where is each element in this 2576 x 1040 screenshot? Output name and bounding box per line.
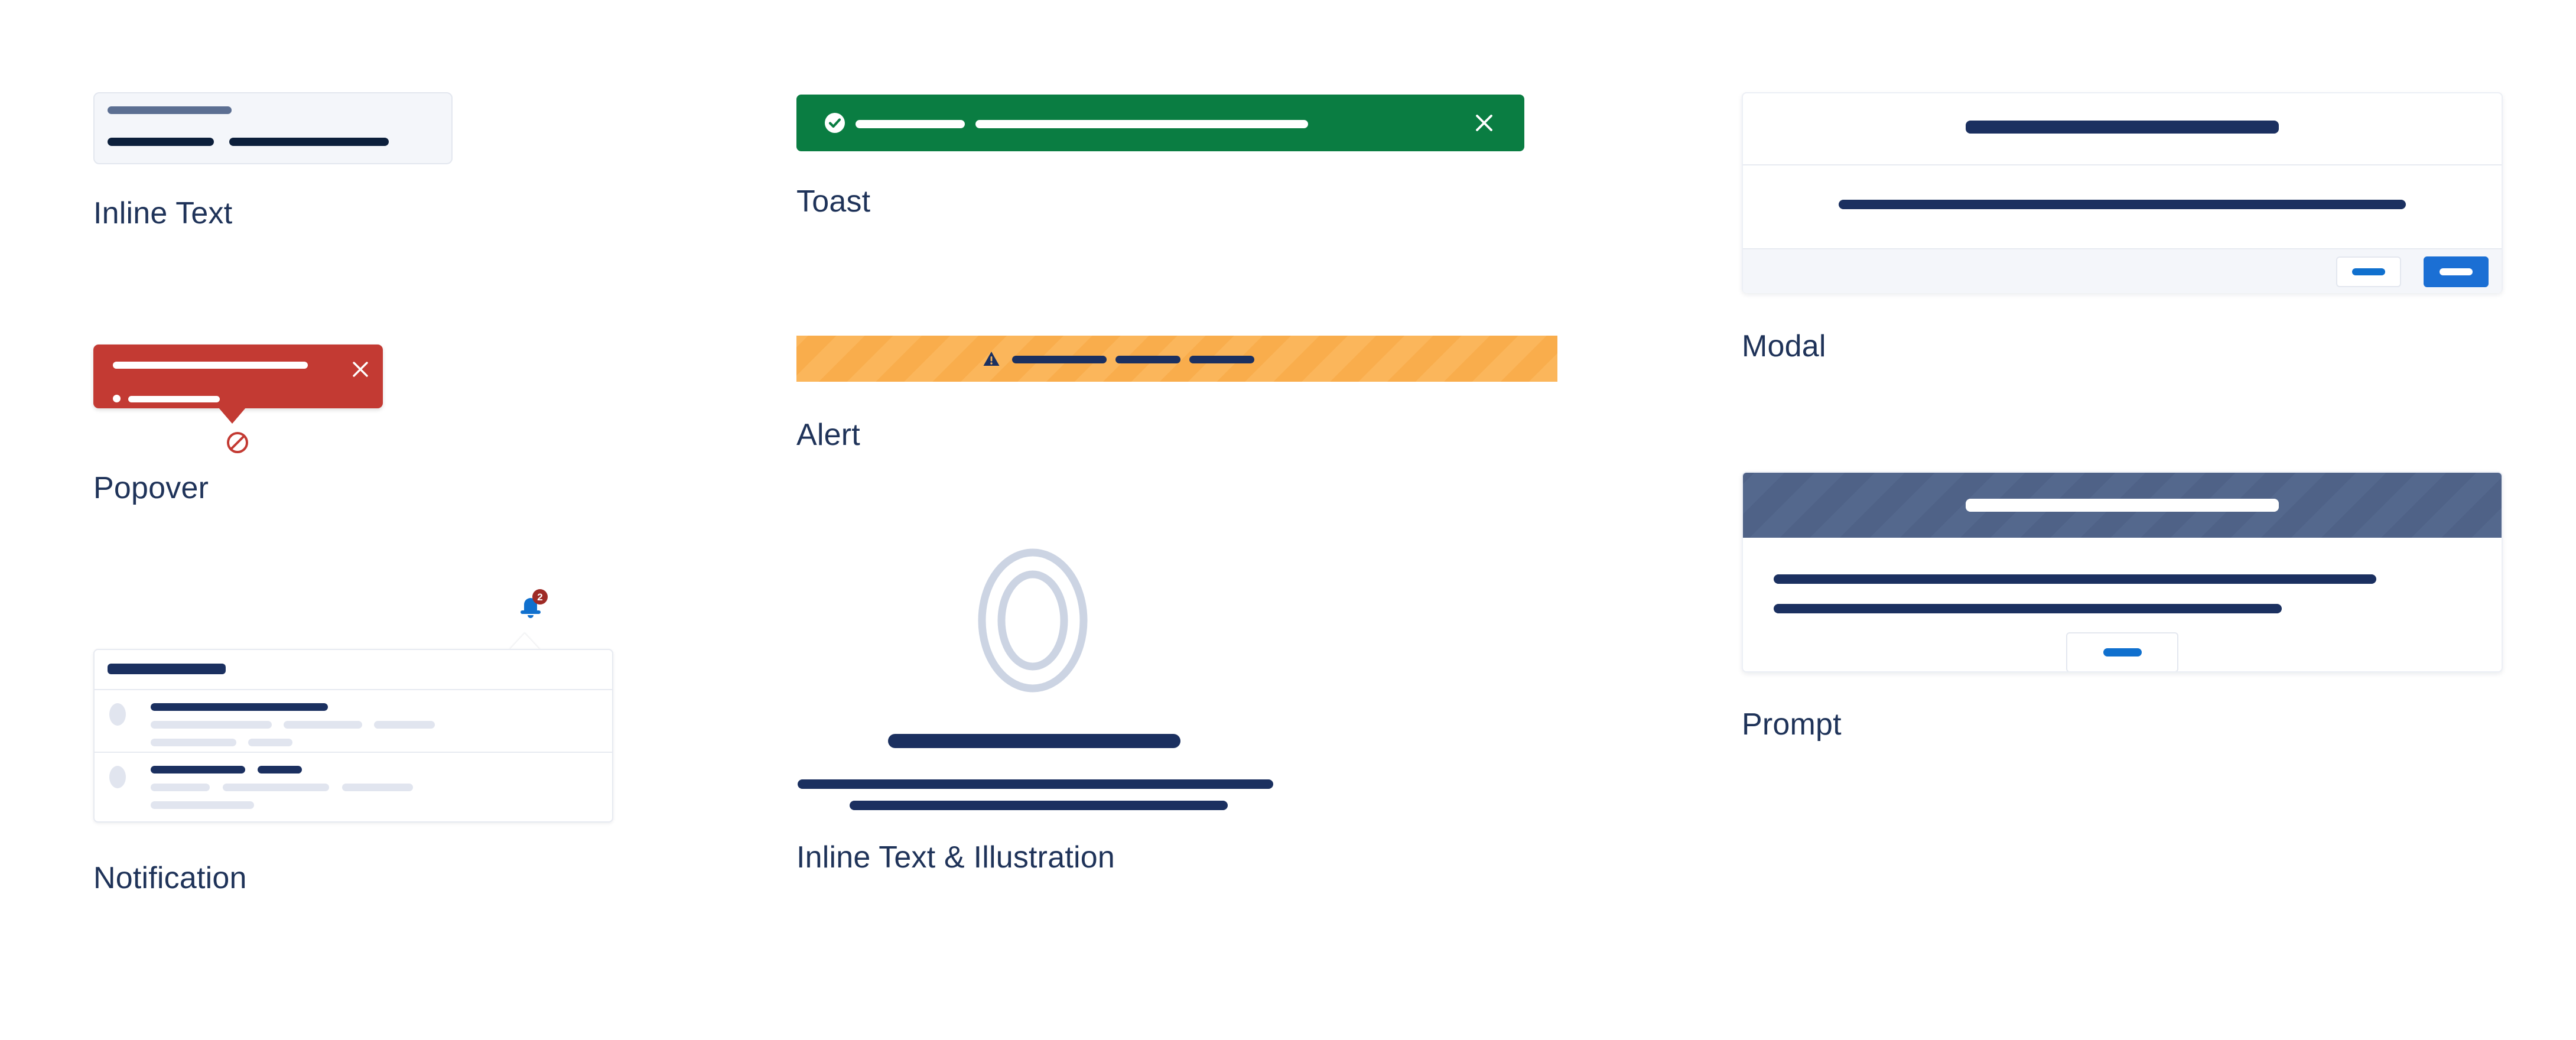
button-label-bar [2352,268,2385,275]
modal-body [1743,165,2502,249]
popover-title-bar [113,362,308,369]
popover-card [93,344,383,408]
illustration-bar-3 [850,801,1228,810]
prompt-dialog [1742,472,2503,672]
notification-badge-count: 2 [537,591,542,603]
prompt-confirm-button[interactable] [2066,632,2178,672]
body-bar [374,721,435,729]
notification-item-content [151,765,600,818]
notification-item-content [151,702,600,755]
notification-panel-tail [509,633,540,650]
notification-list-item[interactable] [95,753,612,814]
body-bar [151,801,254,809]
modal-cancel-button[interactable] [2336,256,2401,287]
popover-tail [219,408,246,424]
prompt-body-bar-1 [1774,574,2376,584]
body-bar [151,721,272,729]
alert-message-bar-3 [1189,356,1254,363]
caption-alert: Alert [796,420,860,450]
title-bar [151,703,328,711]
prompt-body-bar-2 [1774,604,2282,613]
body-bar [151,739,236,746]
toast-message-bar-2 [975,120,1308,128]
caption-popover: Popover [93,473,209,503]
avatar [109,703,126,726]
caption-prompt: Prompt [1742,709,1842,740]
placeholder-bar-title [108,106,232,114]
warning-triangle-icon [983,350,1000,368]
prompt-header [1743,473,2502,538]
modal-confirm-button[interactable] [2424,256,2489,287]
modal-body-bar [1839,200,2406,209]
alert-banner [796,336,1557,382]
body-bar [151,784,210,791]
inline-text-card [93,92,453,164]
alert-message-bar-1 [1012,356,1107,363]
notification-item-body-line [151,800,600,811]
concentric-rings-icon [959,547,1107,694]
title-bar [151,766,245,773]
body-bar [223,784,329,791]
modal-dialog [1742,92,2503,293]
illustration-bar-1 [888,734,1180,748]
button-label-bar [2440,268,2473,275]
body-bar [342,784,413,791]
no-entry-icon [226,431,249,454]
notification-item-body-line [151,720,600,730]
inline-text-illustration [796,535,1269,812]
notification-list-item[interactable] [95,690,612,753]
close-icon[interactable] [1472,111,1496,135]
popover-bullet-dot [113,395,121,402]
illustration-bar-2 [798,779,1273,789]
notification-panel-header [95,650,612,690]
notification-item-title [151,765,600,775]
modal-footer [1743,249,2502,293]
body-bar [284,721,362,729]
caption-toast: Toast [796,186,870,217]
avatar [109,766,126,788]
notification-header-bar [108,664,226,674]
bell-icon[interactable]: 2 [512,588,549,625]
alert-message-bar-2 [1115,356,1180,363]
body-bar [248,739,292,746]
close-icon[interactable] [350,359,371,380]
caption-inline-text-illustration: Inline Text & Illustration [796,842,1115,873]
toast-message-bar-1 [856,120,965,128]
modal-header [1743,93,2502,165]
caption-notification: Notification [93,863,247,893]
check-circle-icon [824,112,845,134]
popover-bullet-text-bar [128,396,220,402]
prompt-body [1743,538,2502,671]
title-bar [258,766,302,773]
components-canvas: Inline Text Popover 2 [0,0,2576,1040]
notification-item-body-line [151,737,600,748]
notification-panel [93,649,613,823]
notification-item-title [151,702,600,713]
caption-inline-text: Inline Text [93,198,232,229]
notification-item-body-line [151,782,600,793]
button-label-bar [2103,648,2142,656]
placeholder-bar-line-1 [108,138,214,146]
modal-title-bar [1966,121,2279,134]
prompt-title-bar [1966,499,2279,512]
placeholder-bar-line-2 [229,138,389,146]
caption-modal: Modal [1742,331,1826,362]
toast [796,95,1524,151]
